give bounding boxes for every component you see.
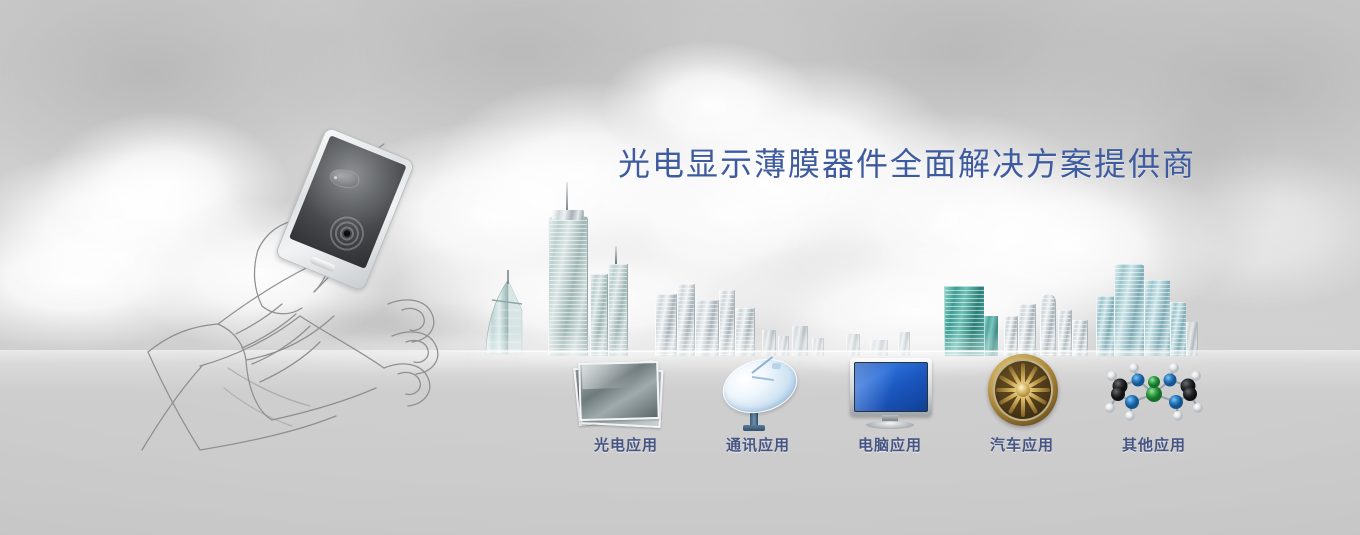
application-label: 电脑应用 — [824, 434, 956, 455]
atom-hydrogen — [1107, 371, 1117, 381]
monitor-screen-sheen — [854, 362, 900, 412]
atom-hydrogen — [1125, 411, 1135, 421]
spire-mid-b — [615, 246, 617, 264]
application-label: 汽车应用 — [956, 434, 1088, 455]
car-wheel-rim-icon — [956, 352, 1088, 432]
monitor-stand — [866, 421, 914, 429]
atom-hydrogen — [1191, 371, 1201, 381]
touch-ripple-icon — [321, 207, 373, 259]
atom-nitrogen — [1125, 395, 1139, 409]
building-main-tower — [548, 216, 588, 356]
glass-film-panels-icon — [560, 352, 692, 432]
atom-nitrogen — [1132, 374, 1145, 387]
banner-stage: 光电显示薄膜器件全面解决方案提供商 光电应用 — [0, 0, 1360, 535]
monitor-bezel — [850, 358, 932, 416]
building-main-crown — [552, 210, 584, 220]
atom-carbon — [1111, 387, 1125, 401]
wheel-rim-outer — [988, 354, 1058, 426]
atom-hydrogen — [1129, 363, 1139, 373]
atom-nitrogen — [1164, 374, 1177, 387]
atom-hydrogen — [1169, 363, 1179, 373]
atom-hydrogen — [1105, 403, 1115, 413]
hand-holding-phone-sketch — [140, 120, 470, 480]
application-item-optoelectronic[interactable]: 光电应用 — [560, 352, 692, 464]
application-item-computer[interactable]: 电脑应用 — [824, 352, 956, 464]
molecule-model-icon — [1088, 352, 1220, 432]
atom-carbon — [1183, 387, 1197, 401]
monitor-screen — [854, 362, 928, 412]
dish-base — [743, 425, 765, 431]
satellite-dish-icon — [692, 352, 824, 432]
atom-hydrogen — [1193, 403, 1203, 413]
application-label: 通讯应用 — [692, 434, 824, 455]
atom-hydrogen — [1173, 411, 1183, 421]
dish-lnb — [772, 363, 781, 369]
atom-metal-center — [1148, 376, 1160, 388]
application-item-other[interactable]: 其他应用 — [1088, 352, 1220, 464]
application-label: 光电应用 — [560, 434, 692, 455]
application-icons-row: 光电应用 通讯应用 — [560, 352, 1220, 464]
application-item-automotive[interactable]: 汽车应用 — [956, 352, 1088, 464]
page-title: 光电显示薄膜器件全面解决方案提供商 — [618, 139, 1196, 185]
application-label: 其他应用 — [1088, 434, 1220, 455]
dish-rim — [716, 351, 803, 422]
atom-metal-center — [1146, 386, 1162, 402]
film-panel-gloss — [582, 363, 657, 390]
atom-nitrogen — [1169, 395, 1183, 409]
wheel-hub — [1016, 383, 1030, 397]
application-item-communication[interactable]: 通讯应用 — [692, 352, 824, 464]
computer-monitor-icon — [824, 352, 956, 432]
wheel-rim-inner — [993, 359, 1053, 421]
